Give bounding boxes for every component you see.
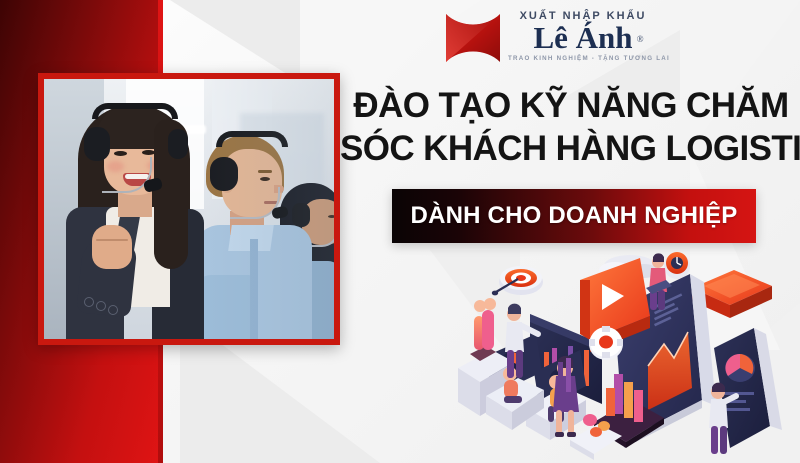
page-title: ĐÀO TẠO KỸ NĂNG CHĂM SÓC KHÁCH HÀNG LOGI… <box>340 84 800 170</box>
logo-wordmark: XUẤT NHẬP KHẨU Lê Ánh® TRAO KINH NGHIỆM … <box>508 6 658 72</box>
registered-trademark-icon: ® <box>637 23 644 55</box>
logo-tagline: TRAO KINH NGHIỆM - TẶNG TƯƠNG LAI <box>508 55 658 62</box>
promo-banner: XUẤT NHẬP KHẨU Lê Ánh® TRAO KINH NGHIỆM … <box>0 0 800 463</box>
logo-name: Lê Ánh® <box>533 22 632 54</box>
clock-icon <box>664 252 690 279</box>
isometric-analytics-illustration <box>452 248 800 463</box>
brand-logo[interactable]: XUẤT NHẬP KHẨU Lê Ánh® TRAO KINH NGHIỆM … <box>444 6 654 72</box>
headline-line-2: SÓC KHÁCH HÀNG LOGISTICS <box>340 127 800 170</box>
logo-name-text: Lê Ánh <box>533 20 632 55</box>
headline-line-1: ĐÀO TẠO KỸ NĂNG CHĂM <box>353 86 788 125</box>
sub-banner-text: DÀNH CHO DOANH NGHIỆP <box>411 202 738 230</box>
le-anh-bowtie-mark-icon <box>444 12 502 64</box>
photo-vignette <box>44 79 334 339</box>
call-center-photo <box>44 79 334 339</box>
target-dart-icon <box>492 266 543 295</box>
sub-banner: DÀNH CHO DOANH NGHIỆP <box>392 189 756 243</box>
